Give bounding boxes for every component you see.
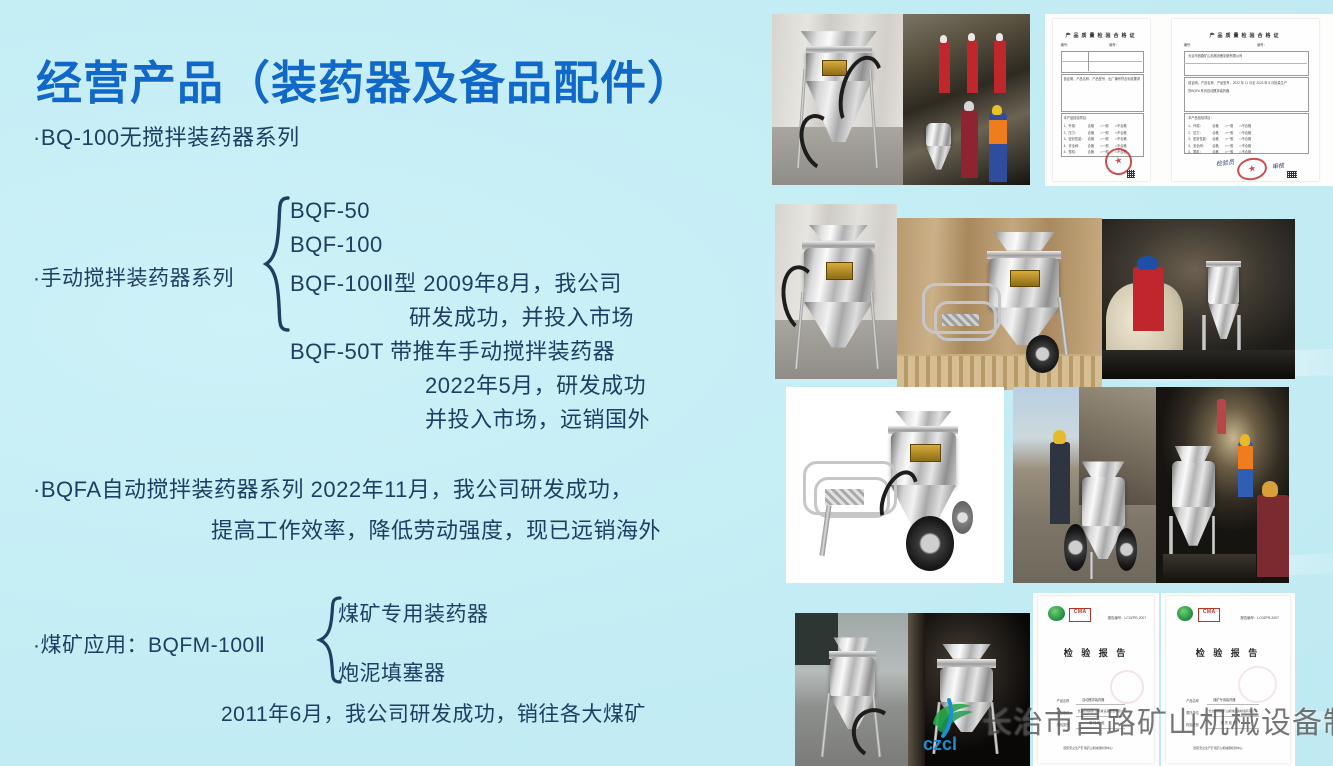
manual-line-4: 研发成功，并投入市场 [409, 300, 634, 332]
cma-badge: CMA [1198, 608, 1220, 622]
manual-line-5: BQF-50T 带推车手动搅拌装药器 [290, 334, 615, 366]
company-watermark: 长治市昌路矿山机械设备制造有限公司 [982, 698, 1333, 742]
photo-worker-outdoor-trolley [1013, 387, 1156, 583]
doc-title-text: 产品质量检验合格证 [1172, 32, 1319, 39]
photo-tunnel-operation [1156, 387, 1289, 583]
doc-footer: 国家安全生产矿用矿山机械器检测中心 [1064, 746, 1113, 750]
logo-text: czcl [923, 734, 957, 754]
coal-item-1: 煤矿专用装药器 [338, 598, 489, 628]
bullet-coal-application-label: ·煤矿应用：BQFM-100Ⅱ [33, 629, 266, 659]
doc-company-field: 长治市昌路矿山机械设备制造有限公司 [1188, 54, 1242, 59]
photo-vessel-stainless-indoor [775, 204, 897, 379]
manual-line-3: BQF-100Ⅱ型 2009年8月，我公司 [290, 266, 622, 298]
photo-certificate-document-2: 产品质量检验合格证 编号： 编号： 长治市昌路矿山机械设备制造有限公司 兹证明，… [1158, 14, 1333, 186]
doc-title-text: 检 验 报 告 [1166, 646, 1289, 659]
photo-trolley-charger-white-bg [786, 387, 1004, 583]
bullet-bqfa-series-line1: ·BQFA自动搅拌装药器系列 2022年11月，我公司研发成功， [33, 472, 633, 504]
coal-note: 2011年6月，我公司研发成功，销往各大煤矿 [221, 698, 646, 728]
manual-line-6: 2022年5月，研发成功 [425, 368, 646, 400]
photo-vessel-with-trolley-crate [897, 218, 1102, 390]
photo-mine-workers-tunnel [903, 14, 1030, 185]
text-column: 经营产品（装药器及备品配件） ·BQ-100无搅拌装药器系列 ·手动搅拌装药器系… [0, 0, 770, 766]
bullet-bqfa-series-line2: 提高工作效率，降低劳动强度，现已远销海外 [211, 513, 661, 545]
doc-title-text: 检 验 报 告 [1038, 646, 1154, 659]
photo-certificate-document-1: 产品质量检验合格证 编号： 编号： 兹证明，产品名称、产品型号、出厂编号符合标准… [1045, 14, 1158, 186]
doc-footer: 国家安全生产矿用矿山机械器检测中心 [1193, 746, 1242, 750]
company-logo-icon: czcl [915, 694, 989, 756]
manual-line-7: 并投入市场，远销国外 [425, 402, 650, 434]
doc-report-no: 报告编号：LC0ZPR-2007 [1108, 616, 1147, 621]
coal-item-2: 炮泥填塞器 [338, 657, 446, 687]
bullet-bq100-series: ·BQ-100无搅拌装药器系列 [33, 120, 300, 152]
photo-vessel-yard [795, 613, 908, 766]
photo-worker-underground-loading [1102, 219, 1295, 379]
manual-line-2: BQF-100 [290, 232, 383, 258]
page-title: 经营产品（装药器及备品配件） [36, 47, 694, 113]
photo-charging-vessel-indoor [772, 14, 903, 185]
manual-line-1: BQF-50 [290, 198, 370, 224]
bullet-manual-series-label: ·手动搅拌装药器系列 [33, 262, 234, 292]
cma-badge: CMA [1069, 608, 1091, 622]
slide-canvas: 经营产品（装药器及备品配件） ·BQ-100无搅拌装药器系列 ·手动搅拌装药器系… [0, 0, 1333, 766]
doc-report-no: 报告编号：LC0ZPR-2007 [1240, 616, 1279, 621]
doc-title-text: 产品质量检验合格证 [1053, 32, 1150, 39]
